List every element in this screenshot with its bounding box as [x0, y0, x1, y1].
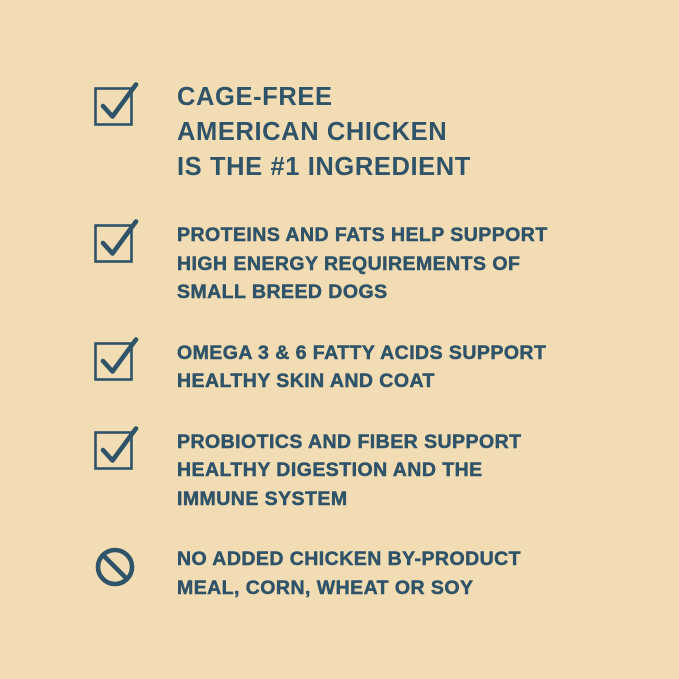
checkbox-checked-icon — [93, 428, 137, 472]
benefit-text-line: PROTEINS AND FATS HELP SUPPORT — [177, 221, 639, 250]
benefit-text: PROBIOTICS AND FIBER SUPPORTHEALTHY DIGE… — [177, 428, 639, 514]
benefit-item: CAGE-FREEAMERICAN CHICKENIS THE #1 INGRE… — [93, 80, 639, 185]
benefits-panel: CAGE-FREEAMERICAN CHICKENIS THE #1 INGRE… — [0, 0, 679, 679]
benefit-text: OMEGA 3 & 6 FATTY ACIDS SUPPORTHEALTHY S… — [177, 339, 639, 396]
benefit-text-line: HEALTHY DIGESTION AND THE — [177, 456, 639, 485]
benefit-item: OMEGA 3 & 6 FATTY ACIDS SUPPORTHEALTHY S… — [93, 339, 639, 396]
prohibited-icon — [93, 545, 137, 589]
benefit-text-line: NO ADDED CHICKEN BY-PRODUCT — [177, 545, 639, 574]
benefit-text-line: AMERICAN CHICKEN — [177, 115, 639, 150]
benefit-item: PROBIOTICS AND FIBER SUPPORTHEALTHY DIGE… — [93, 428, 639, 514]
benefit-text-line: SMALL BREED DOGS — [177, 278, 639, 307]
benefit-text-line: MEAL, CORN, WHEAT OR SOY — [177, 574, 639, 603]
benefit-text-line: OMEGA 3 & 6 FATTY ACIDS SUPPORT — [177, 339, 639, 368]
checkbox-checked-icon — [93, 84, 137, 128]
benefit-text-line: HIGH ENERGY REQUIREMENTS OF — [177, 250, 639, 279]
benefit-text-line: HEALTHY SKIN AND COAT — [177, 367, 639, 396]
benefit-text: CAGE-FREEAMERICAN CHICKENIS THE #1 INGRE… — [177, 80, 639, 185]
checkbox-checked-icon — [93, 339, 137, 383]
benefit-text: PROTEINS AND FATS HELP SUPPORTHIGH ENERG… — [177, 221, 639, 307]
benefit-item: NO ADDED CHICKEN BY-PRODUCTMEAL, CORN, W… — [93, 545, 639, 602]
benefit-text-line: CAGE-FREE — [177, 80, 639, 115]
benefit-text: NO ADDED CHICKEN BY-PRODUCTMEAL, CORN, W… — [177, 545, 639, 602]
benefits-list: CAGE-FREEAMERICAN CHICKENIS THE #1 INGRE… — [93, 80, 639, 602]
checkbox-checked-icon — [93, 221, 137, 265]
benefit-text-line: IS THE #1 INGREDIENT — [177, 150, 639, 185]
benefit-text-line: IMMUNE SYSTEM — [177, 485, 639, 514]
benefit-text-line: PROBIOTICS AND FIBER SUPPORT — [177, 428, 639, 457]
benefit-item: PROTEINS AND FATS HELP SUPPORTHIGH ENERG… — [93, 221, 639, 307]
